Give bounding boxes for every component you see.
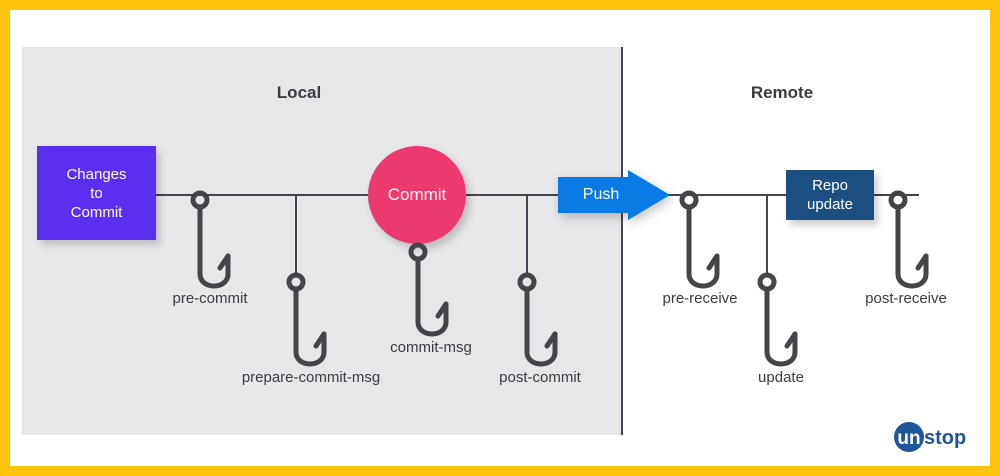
- hook-post-receive: [878, 189, 934, 300]
- unstop-logo-icon: un stop: [893, 421, 983, 453]
- repo-update-box: Repo update: [786, 170, 874, 220]
- hook-drop-stem: [526, 195, 528, 275]
- hook-label-post-receive: post-receive: [865, 290, 947, 307]
- hook-pre-commit: [180, 189, 236, 300]
- hook-icon: [669, 189, 725, 300]
- hook-update: [747, 271, 803, 378]
- hook-label-update: update: [758, 369, 804, 386]
- frame-border-top: [0, 0, 1000, 10]
- hook-drop-stem: [295, 195, 297, 275]
- hook-post-commit: [507, 271, 563, 378]
- hook-icon: [878, 189, 934, 300]
- svg-text:un: un: [897, 428, 920, 449]
- hook-icon: [747, 271, 803, 378]
- hook-prepare-commit-msg: [276, 271, 332, 378]
- hook-icon: [180, 189, 236, 300]
- commit-node: Commit: [368, 146, 466, 244]
- push-arrow: Push: [558, 170, 670, 220]
- hook-icon: [398, 241, 454, 348]
- remote-section-title: Remote: [751, 83, 813, 103]
- changes-to-commit-box: Changes to Commit: [37, 146, 156, 240]
- changes-box-line-1: Changes: [66, 165, 126, 184]
- local-remote-divider: [621, 47, 623, 435]
- diagram-canvas: Local Remote Changes to Commit Commit Pu…: [0, 0, 1000, 476]
- hook-label-commit-msg: commit-msg: [390, 339, 472, 356]
- hook-commit-msg: [398, 241, 454, 348]
- frame-border-bottom: [0, 466, 1000, 476]
- hook-label-pre-receive: pre-receive: [662, 290, 737, 307]
- hook-label-pre-commit: pre-commit: [172, 290, 247, 307]
- hook-drop-stem: [766, 195, 768, 275]
- frame-border-left: [0, 0, 10, 476]
- svg-text:stop: stop: [924, 427, 966, 449]
- repo-box-line-1: Repo: [807, 176, 853, 195]
- changes-box-line-2: to: [66, 184, 126, 203]
- local-section-title: Local: [277, 83, 321, 103]
- repo-box-line-2: update: [807, 195, 853, 214]
- unstop-logo: un stop: [893, 421, 983, 453]
- push-arrow-label: Push: [558, 177, 644, 213]
- hook-label-post-commit: post-commit: [499, 369, 581, 386]
- frame-border-right: [990, 0, 1000, 476]
- hook-icon: [276, 271, 332, 378]
- hook-label-prepare-commit-msg: prepare-commit-msg: [242, 369, 380, 386]
- changes-box-line-3: Commit: [66, 203, 126, 222]
- hook-icon: [507, 271, 563, 378]
- hook-pre-receive: [669, 189, 725, 300]
